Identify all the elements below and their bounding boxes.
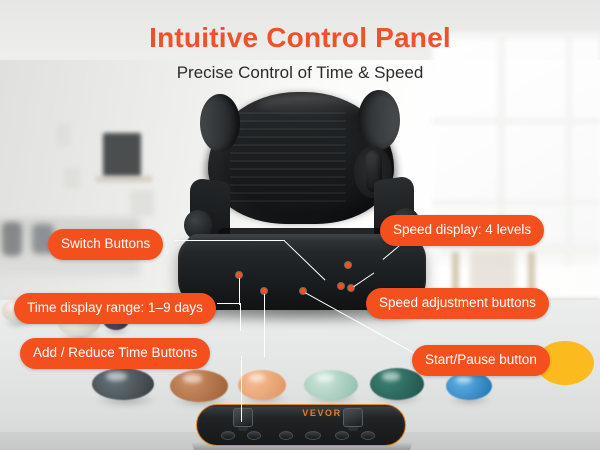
stone-teal	[370, 368, 424, 400]
stone-peach	[238, 370, 286, 400]
callout-dot-time-display	[236, 272, 242, 278]
time-plus-button[interactable]	[247, 431, 261, 440]
drum-end-cap-left	[200, 94, 240, 152]
time-minus-button[interactable]	[221, 431, 235, 440]
stone-mint	[304, 370, 358, 400]
speed-display-screen	[343, 408, 363, 427]
speed-minus-button[interactable]	[335, 431, 349, 440]
page-title: Intuitive Control Panel	[0, 22, 600, 54]
callout-dot-add-reduce-time	[261, 288, 267, 294]
drum-ribs	[230, 106, 346, 214]
wall-decor	[130, 190, 154, 216]
window-mullion	[432, 118, 600, 124]
stone-dark-gray	[92, 368, 154, 400]
callout-speed-adjustment-buttons[interactable]: Speed adjustment buttons	[366, 288, 549, 319]
callout-add-reduce-time-buttons[interactable]: Add / Reduce Time Buttons	[20, 338, 210, 369]
callout-dot-switch-buttons	[338, 283, 344, 289]
background-furniture	[2, 222, 22, 256]
rock-tumbler-product: VEVOR	[178, 88, 426, 313]
wall-picture-frame	[103, 133, 141, 177]
callout-switch-buttons[interactable]: Switch Buttons	[48, 229, 163, 260]
drum-end-cap-right	[358, 90, 400, 150]
callout-speed-display[interactable]: Speed display: 4 levels	[380, 215, 544, 246]
background-table	[440, 244, 600, 254]
stone-brown	[170, 370, 228, 402]
infographic-canvas: VEVOR	[0, 0, 600, 450]
speed-plus-button[interactable]	[361, 431, 375, 440]
background-chair	[470, 250, 516, 290]
wall-decor	[56, 124, 70, 146]
stone-blue	[446, 372, 492, 400]
page-subtitle: Precise Control of Time & Speed	[0, 63, 600, 83]
wall-decor	[64, 168, 80, 188]
control-panel[interactable]: VEVOR	[196, 404, 406, 446]
callout-dot-start-pause	[300, 288, 306, 294]
time-display-screen	[233, 408, 253, 427]
start-pause-button-hw[interactable]	[305, 431, 321, 440]
speed-display-base	[348, 427, 358, 431]
wall-shelf	[96, 176, 152, 182]
time-display-base	[238, 427, 248, 431]
callout-dot-speed-display	[345, 262, 351, 268]
window-mullion	[432, 200, 600, 205]
callout-dot-speed-adjust	[348, 285, 354, 291]
power-button[interactable]	[279, 431, 293, 440]
callout-start-pause-button[interactable]: Start/Pause button	[412, 345, 550, 376]
callout-time-display-range[interactable]: Time display range: 1–9 days	[14, 293, 216, 324]
